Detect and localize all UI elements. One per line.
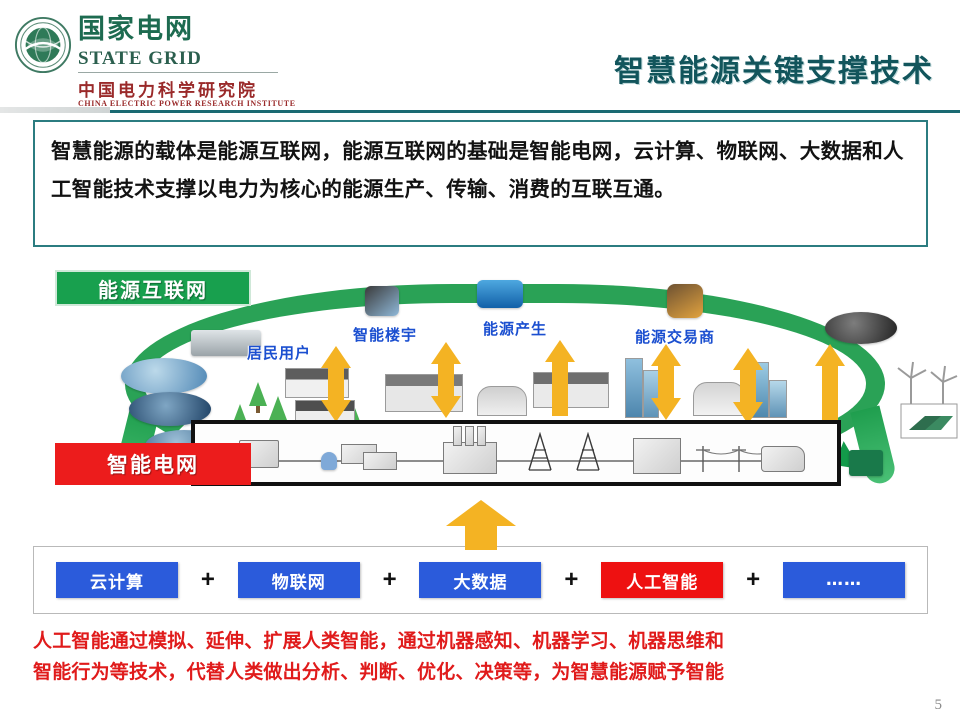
coal-pile-icon (825, 312, 897, 344)
exchange-arrow (431, 342, 461, 418)
node-label-energy-generation: 能源产生 (483, 318, 547, 339)
node-label-smart-building: 智能楼宇 (353, 324, 417, 345)
supporting-technologies-row: 云计算 + 物联网 + 大数据 + 人工智能 + …… (33, 546, 928, 614)
tree-icon (249, 382, 267, 406)
intro-text-box: 智慧能源的载体是能源互联网，能源互联网的基础是智能电网，云计算、物联网、大数据和… (33, 120, 928, 247)
brand-divider (78, 72, 278, 73)
brand-logo-block: 国家电网 STATE GRID 中国电力科学研究院 CHINA ELECTRIC… (8, 10, 298, 105)
tech-item-artificial-intelligence[interactable]: 人工智能 (601, 562, 723, 598)
plus-separator: + (201, 566, 215, 594)
exchange-arrow (321, 346, 351, 422)
power-plant-icon (443, 442, 497, 474)
exchange-arrow (651, 344, 681, 420)
page-title: 智慧能源关键支撑技术 (614, 46, 934, 90)
support-up-arrow (446, 500, 516, 548)
header-rule-left-cap (0, 107, 110, 113)
tech-item-iot[interactable]: 物联网 (238, 562, 360, 598)
tech-item-more[interactable]: …… (783, 562, 905, 598)
transmission-tower-icon (525, 432, 555, 472)
node-label-residential: 居民用户 (247, 342, 311, 363)
plus-separator: + (383, 566, 397, 594)
energy-generation-tank-icon (477, 280, 523, 308)
brand-name-cn: 国家电网 (78, 16, 194, 43)
slide-root: 国家电网 STATE GRID 中国电力科学研究院 CHINA ELECTRIC… (0, 0, 960, 720)
energy-internet-label: 能源互联网 (55, 270, 251, 306)
power-plant-stack-icon (477, 426, 486, 446)
brand-name-en: STATE GRID (78, 48, 202, 70)
footer-line-2: 智能行为等技术，代替人类做出分析、判断、优化、决策等，为智慧能源赋予智能 (33, 657, 933, 688)
green-arrow-marker-icon (849, 450, 883, 476)
slide-header: 国家电网 STATE GRID 中国电力科学研究院 CHINA ELECTRIC… (0, 0, 960, 110)
water-reservoir-icon (121, 358, 207, 394)
control-center-icon (363, 452, 397, 470)
footer-line-1: 人工智能通过模拟、延伸、扩展人类智能，通过机器感知、机器学习、机器思维和 (33, 626, 933, 657)
state-grid-globe-logo-icon (14, 16, 72, 74)
power-plant-stack-icon (453, 426, 462, 446)
node-label-energy-trader: 能源交易商 (635, 326, 715, 347)
footer-highlight-text: 人工智能通过模拟、延伸、扩展人类智能，通过机器感知、机器学习、机器思维和 智能行… (33, 626, 933, 688)
tech-item-big-data[interactable]: 大数据 (419, 562, 541, 598)
smart-grid-label: 智能电网 (55, 443, 251, 485)
tree-icon (269, 396, 287, 420)
plus-separator: + (746, 566, 760, 594)
institute-name-cn: 中国电力科学研究院 (78, 76, 258, 101)
page-number: 5 (935, 697, 943, 714)
solar-panel-icon (899, 402, 959, 442)
wind-turbine-icon (895, 358, 960, 408)
office-tower-icon (625, 358, 643, 418)
power-plant-stack-icon (465, 426, 474, 446)
intro-paragraph: 智慧能源的载体是能源互联网，能源互联网的基础是智能电网，云计算、物联网、大数据和… (51, 132, 912, 208)
exchange-arrow (733, 348, 763, 424)
plus-separator: + (564, 566, 578, 594)
smart-building-person-icon (365, 286, 399, 316)
energy-trader-person-icon (667, 284, 703, 318)
institute-name-en: CHINA ELECTRIC POWER RESEARCH INSTITUTE (78, 99, 296, 108)
header-rule (0, 110, 960, 113)
operator-person-icon (321, 452, 337, 470)
smart-grid-box (191, 420, 841, 486)
exchange-arrow (545, 340, 575, 416)
transmission-tower-icon (573, 432, 603, 472)
transformer-icon (633, 438, 681, 474)
house-icon (761, 446, 805, 472)
tech-item-cloud-computing[interactable]: 云计算 (56, 562, 178, 598)
government-building-icon (477, 386, 527, 416)
city-skyline-icon (769, 380, 787, 418)
exchange-arrow (815, 344, 845, 420)
